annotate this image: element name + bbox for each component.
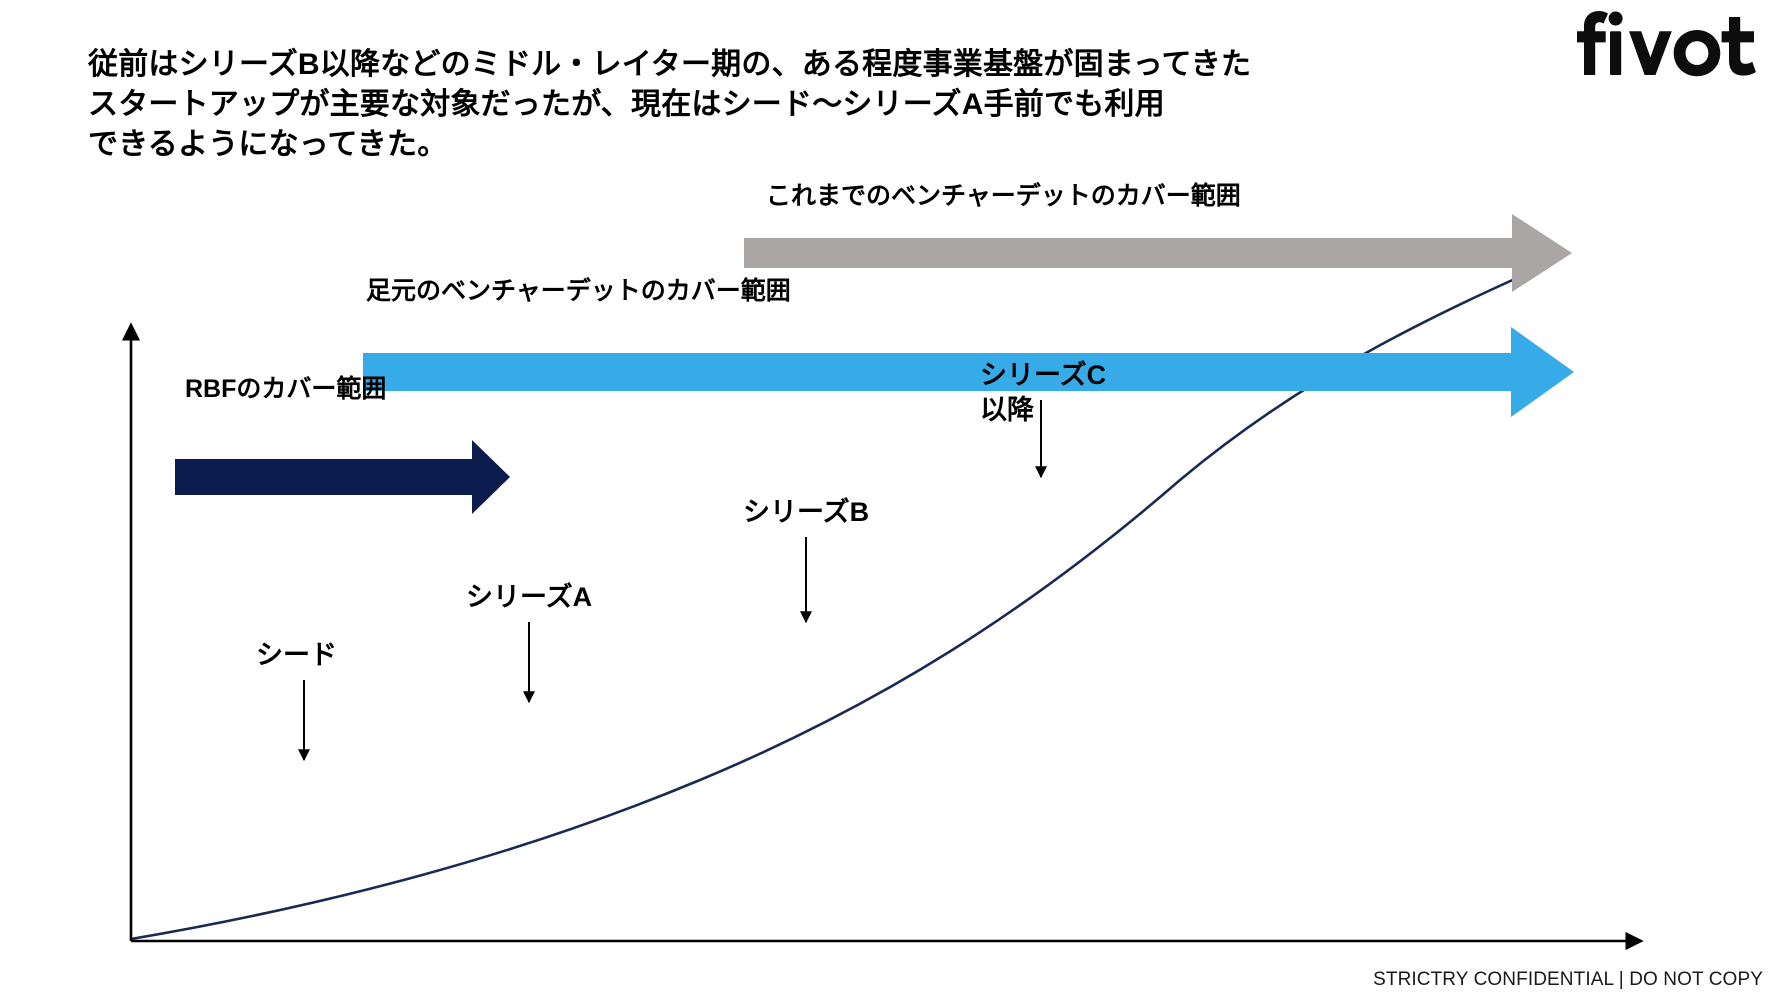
coverage-label-navy: RBFのカバー範囲 xyxy=(185,373,386,406)
coverage-label-blue: 足元のベンチャーデットのカバー範囲 xyxy=(366,275,791,308)
coverage-arrow-navy xyxy=(175,440,510,514)
page-title: 従前はシリーズB以降などのミドル・レイター期の、ある程度事業基盤が固まってきた … xyxy=(88,45,1418,165)
coverage-label-gray: これまでのベンチャーデットのカバー範囲 xyxy=(766,180,1241,213)
coverage-arrow-gray xyxy=(744,214,1572,292)
fivot-logo-icon xyxy=(1548,6,1763,80)
fivot-logo xyxy=(1548,6,1763,80)
stage-label-series-b: シリーズB xyxy=(743,495,869,530)
stage-label-series-a: シリーズA xyxy=(466,580,592,615)
stage-label-seed: シード xyxy=(256,638,337,673)
stage-label-series-c: シリーズC 以降 xyxy=(980,358,1106,428)
confidentiality-footer: STRICTRY CONFIDENTIAL | DO NOT COPY xyxy=(1373,969,1763,991)
slide-canvas: 従前はシリーズB以降などのミドル・レイター期の、ある程度事業基盤が固まってきた … xyxy=(0,0,1781,1001)
coverage-arrow-blue xyxy=(363,327,1574,417)
growth-curve xyxy=(131,258,1562,939)
